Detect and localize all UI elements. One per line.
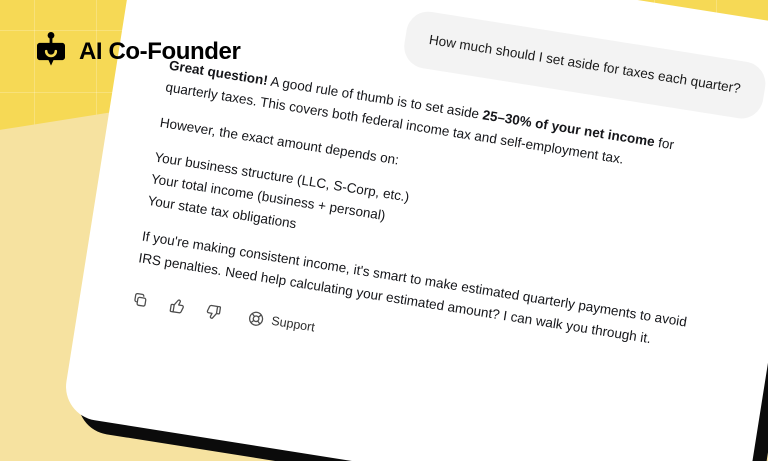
brand-lockup: AI Co-Founder [34,32,240,72]
screenshot-stage: AI Co-Founder How much should I set asid… [0,0,768,461]
thumbs-down-button[interactable] [204,302,223,321]
lifebuoy-icon [246,309,265,328]
robot-head-icon [34,32,68,72]
support-button[interactable]: Support [246,309,316,336]
copy-button[interactable] [131,290,150,309]
support-label: Support [270,314,315,335]
thumbs-up-icon [167,296,186,315]
brand-name: AI Co-Founder [79,40,240,64]
thumbs-up-button[interactable] [167,296,186,315]
thumbs-down-icon [204,302,223,321]
copy-icon [131,290,150,309]
